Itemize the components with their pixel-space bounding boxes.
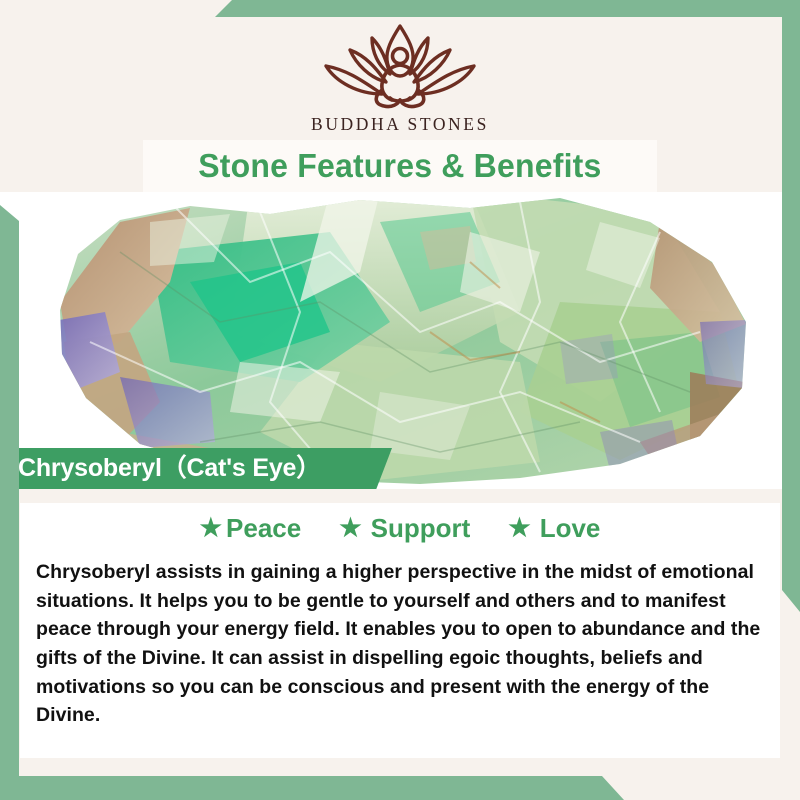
benefits-row: ★ Peace ★ Support ★ Love: [20, 503, 780, 544]
title-banner: Stone Features & Benefits: [143, 140, 657, 192]
benefit-love: ★ Love: [508, 513, 600, 544]
photo-gap-strip: [0, 489, 800, 503]
stone-photo: [0, 192, 800, 489]
star-icon: ★: [508, 516, 530, 541]
brand-logo: BUDDHA STONES: [0, 16, 800, 135]
benefit-label-peace: Peace: [226, 513, 301, 544]
page-title: Stone Features & Benefits: [198, 147, 601, 185]
stone-name-ribbon: Chrysoberyl（Cat's Eye）: [0, 448, 392, 489]
star-icon: ★: [339, 516, 361, 541]
content-card: ★ Peace ★ Support ★ Love Chrysoberyl ass…: [20, 503, 780, 758]
benefit-label-support: Support: [371, 513, 471, 544]
benefit-support: ★ Support: [339, 513, 470, 544]
stone-photo-illustration: [0, 192, 800, 489]
benefit-peace: ★ Peace: [200, 513, 302, 544]
lotus-meditation-icon: [312, 16, 488, 112]
stone-description: Chrysoberyl assists in gaining a higher …: [36, 558, 764, 730]
stone-info-poster: BUDDHA STONES Stone Features & Benefits …: [0, 0, 800, 800]
stone-name: Chrysoberyl（Cat's Eye）: [18, 448, 321, 489]
star-icon: ★: [200, 516, 222, 541]
brand-name: BUDDHA STONES: [0, 114, 800, 135]
benefit-label-love: Love: [540, 513, 601, 544]
